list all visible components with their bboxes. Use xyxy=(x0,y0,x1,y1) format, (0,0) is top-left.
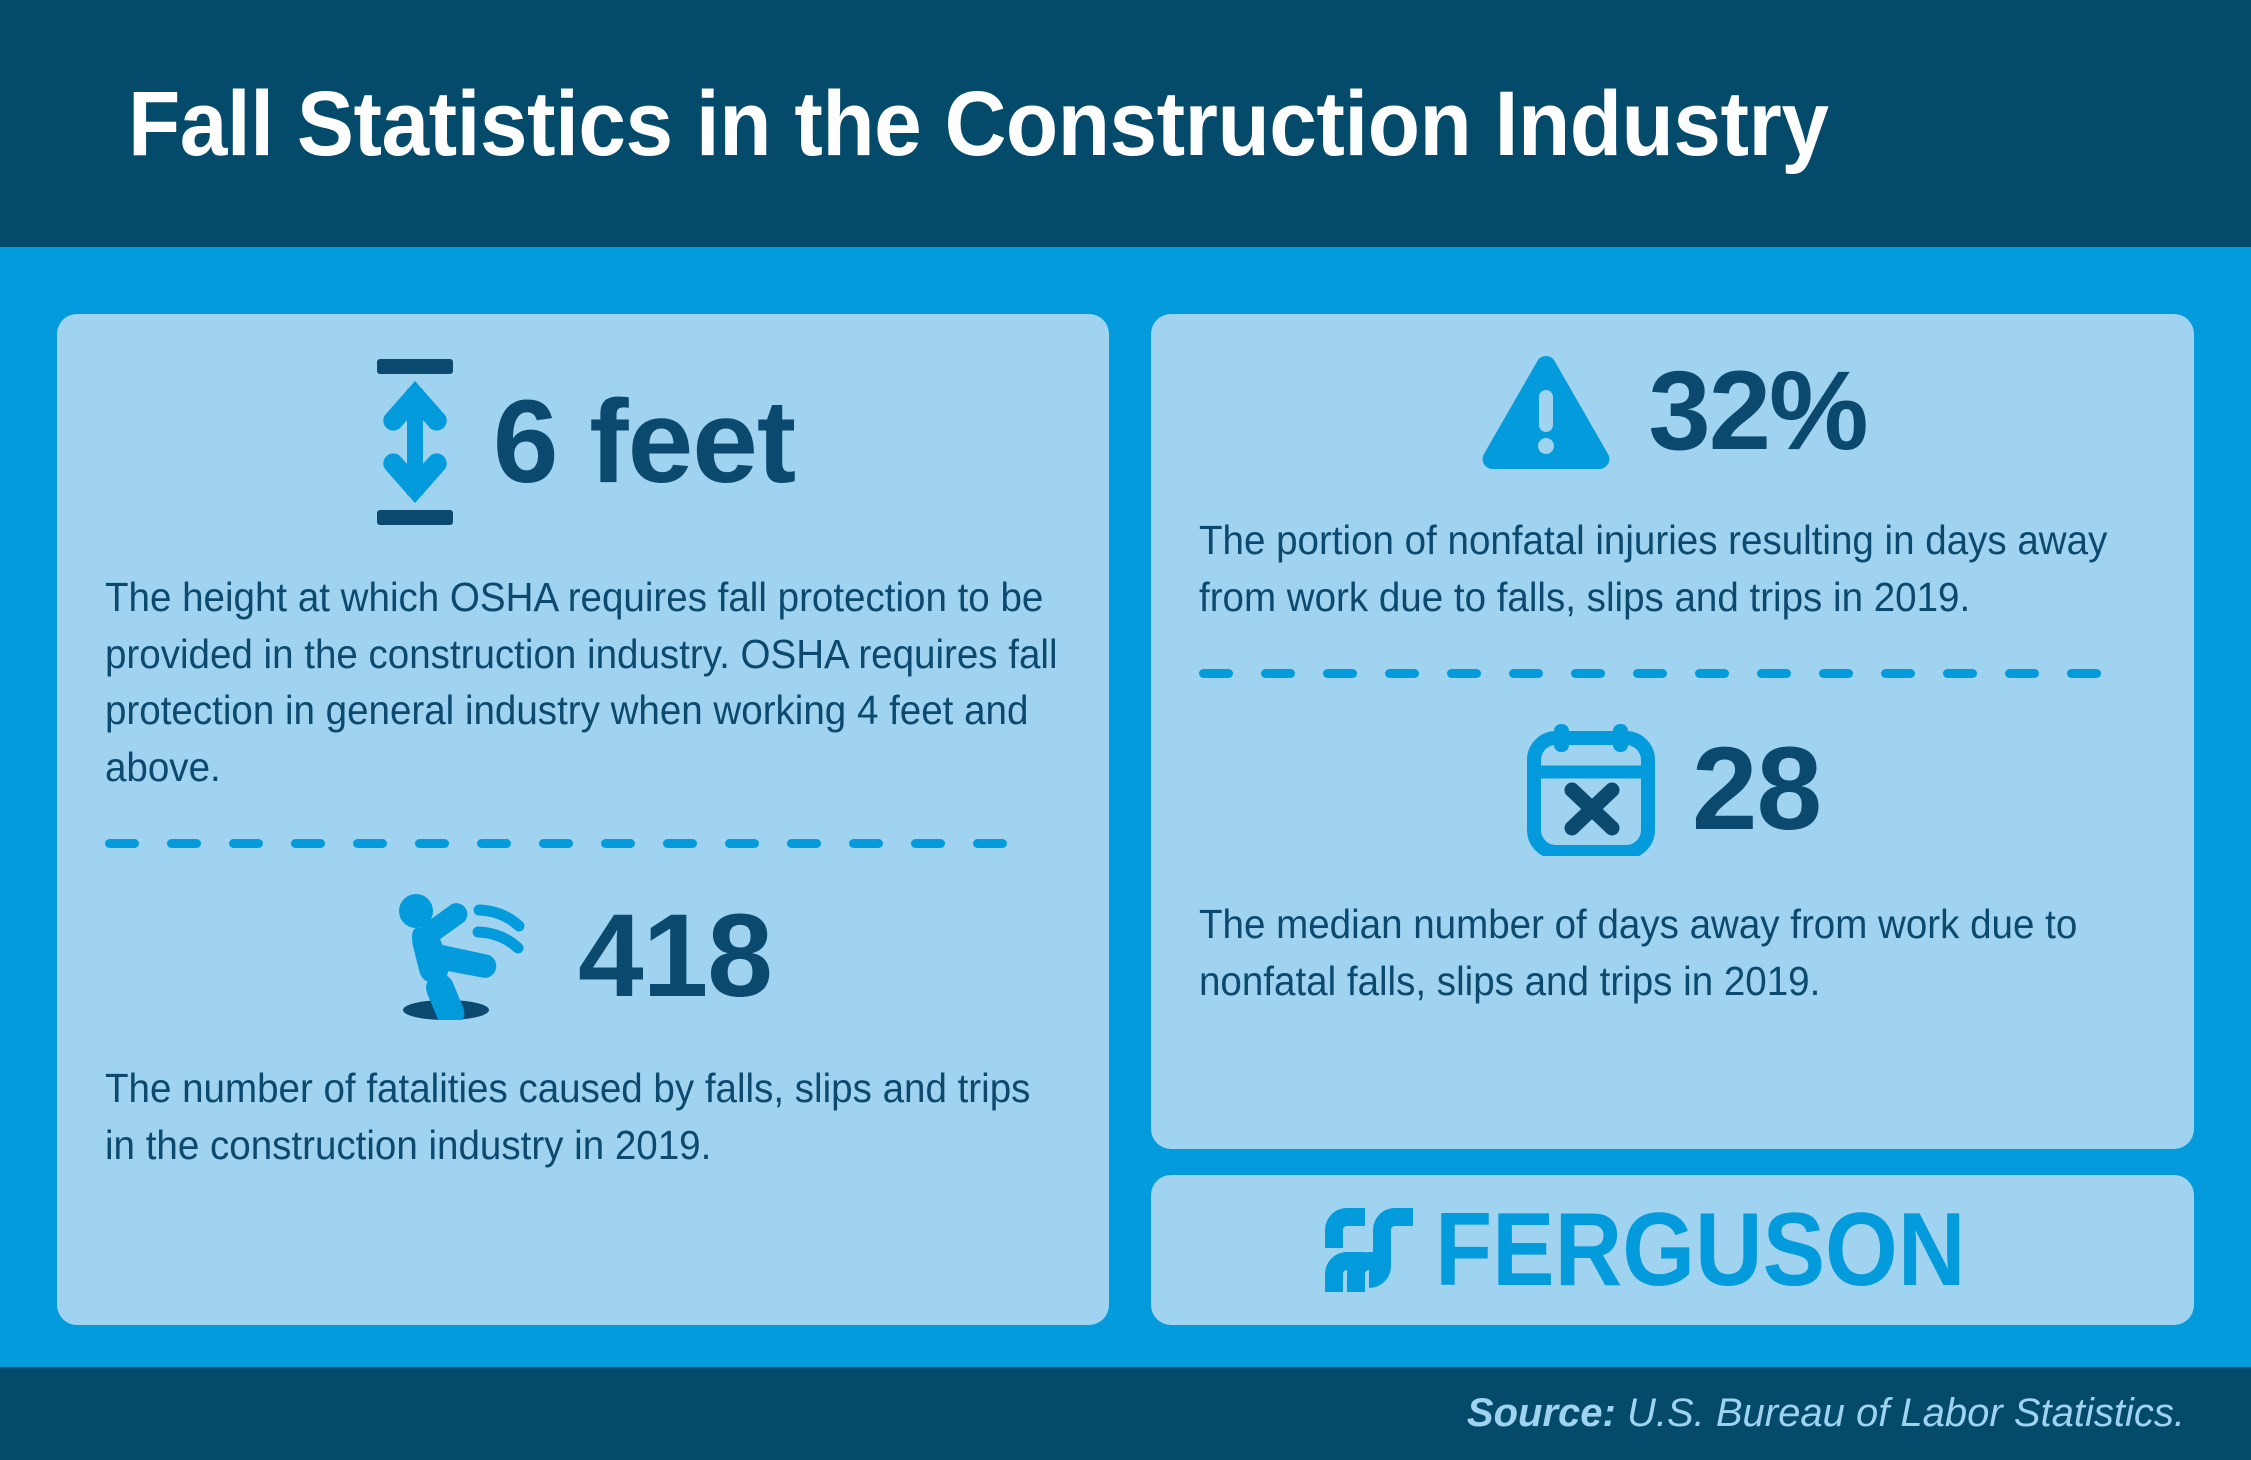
stat-headline-row: 6 feet xyxy=(105,359,1061,525)
source-label: Source: xyxy=(1467,1391,1616,1435)
divider-dash xyxy=(353,839,387,848)
calendar-x-icon xyxy=(1524,722,1658,856)
stat-headline-row: 32% xyxy=(1199,350,2146,472)
warning-triangle-icon xyxy=(1478,350,1614,472)
ferguson-wordmark: FERGUSON xyxy=(1435,1198,1965,1302)
height-double-arrow-icon xyxy=(371,359,459,525)
divider-dash xyxy=(167,839,201,848)
divider-dash xyxy=(787,839,821,848)
page-title: Fall Statistics in the Construction Indu… xyxy=(128,78,1828,170)
divider-dash xyxy=(601,839,635,848)
stat-headline-row: 418 xyxy=(105,892,1061,1020)
divider-dash xyxy=(849,839,883,848)
divider-dash xyxy=(1509,669,1543,678)
divider-dash xyxy=(1695,669,1729,678)
divider-dash xyxy=(1633,669,1667,678)
stat-description-418: The number of fatalities caused by falls… xyxy=(105,1060,1062,1173)
stat-description-32-percent: The portion of nonfatal injuries resulti… xyxy=(1199,512,2147,625)
divider-dash xyxy=(291,839,325,848)
divider-dash xyxy=(1819,669,1853,678)
stat-block-28: 28 The median number of days away from w… xyxy=(1199,722,2146,1009)
divider-dash xyxy=(663,839,697,848)
ferguson-logo: FERGUSON xyxy=(1321,1198,2024,1302)
divider-dash xyxy=(1447,669,1481,678)
divider-dash xyxy=(1881,669,1915,678)
divider-dash xyxy=(477,839,511,848)
divider-dash xyxy=(1323,669,1357,678)
stat-block-6-feet: 6 feet The height at which OSHA requires… xyxy=(105,314,1061,795)
divider-dash xyxy=(1385,669,1419,678)
stat-description-6-feet: The height at which OSHA requires fall p… xyxy=(105,569,1062,795)
divider-dash xyxy=(1757,669,1791,678)
divider-dash xyxy=(1261,669,1295,678)
divider-dash xyxy=(1571,669,1605,678)
stat-value-418: 418 xyxy=(578,897,772,1015)
divider-dash xyxy=(1199,669,1233,678)
right-stats-card: 32% The portion of nonfatal injuries res… xyxy=(1151,314,2194,1149)
divider-dash xyxy=(725,839,759,848)
stat-value-32-percent: 32% xyxy=(1648,355,1866,467)
stat-description-28: The median number of days away from work… xyxy=(1199,896,2147,1009)
stat-value-6-feet: 6 feet xyxy=(493,383,795,501)
divider-dash xyxy=(911,839,945,848)
infographic-page: Fall Statistics in the Construction Indu… xyxy=(0,0,2251,1460)
stat-block-418: 418 The number of fatalities caused by f… xyxy=(105,892,1061,1173)
right-card-divider xyxy=(1199,669,2146,678)
divider-dash xyxy=(105,839,139,848)
ferguson-chain-link-icon xyxy=(1321,1208,1417,1292)
main-content: 6 feet The height at which OSHA requires… xyxy=(0,247,2251,1367)
page-header: Fall Statistics in the Construction Indu… xyxy=(0,0,2251,247)
left-card-divider xyxy=(105,839,1061,848)
divider-dash xyxy=(229,839,263,848)
source-value: U.S. Bureau of Labor Statistics. xyxy=(1616,1391,2185,1435)
divider-dash xyxy=(973,839,1007,848)
stat-block-32-percent: 32% The portion of nonfatal injuries res… xyxy=(1199,314,2146,625)
left-stats-card: 6 feet The height at which OSHA requires… xyxy=(57,314,1109,1325)
stat-value-28: 28 xyxy=(1692,730,1821,848)
divider-dash xyxy=(415,839,449,848)
divider-dash xyxy=(539,839,573,848)
divider-dash xyxy=(1943,669,1977,678)
divider-dash xyxy=(2005,669,2039,678)
ferguson-logo-card: FERGUSON xyxy=(1151,1175,2194,1325)
page-footer: Source: U.S. Bureau of Labor Statistics. xyxy=(0,1367,2251,1460)
stat-headline-row: 28 xyxy=(1199,722,2146,856)
source-attribution: Source: U.S. Bureau of Labor Statistics. xyxy=(1467,1391,2185,1436)
person-slipping-icon xyxy=(394,892,544,1020)
divider-dash xyxy=(2067,669,2101,678)
